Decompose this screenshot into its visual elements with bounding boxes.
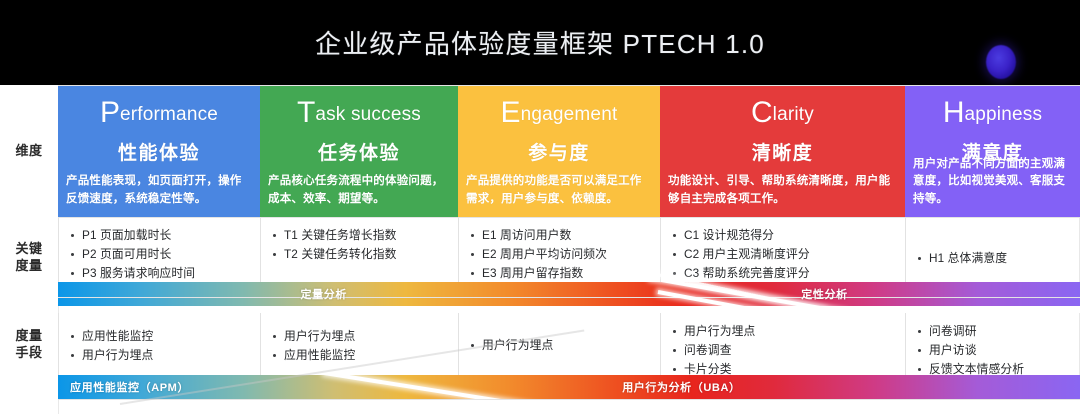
en-rest-clarity: larity: [773, 104, 814, 125]
means-cell-performance: 应用性能监控 用户行为埋点: [58, 313, 260, 376]
row-label-key-metrics-line2: 度量: [15, 258, 42, 273]
initial-e: E: [501, 96, 521, 129]
means-cell-task-success: 用户行为埋点 应用性能监控: [260, 313, 458, 376]
list-item: 问卷调查: [671, 341, 899, 360]
list-item: 应用性能监控: [69, 327, 254, 346]
band-label-apm: 应用性能监控（APM）: [70, 375, 189, 399]
grid-hline-means-bottom: [58, 399, 1080, 400]
header-desc-clarity: 功能设计、引导、帮助系统清晰度，用户能够自主完成各项工作。: [668, 173, 897, 209]
framework-grid: 维度 关键 度量 度量 手段 Performance: [0, 85, 1080, 414]
band-label-uba: 用户行为分析（UBA）: [528, 375, 835, 399]
header-card-task-success: Task success 任务体验 产品核心任务流程中的体验问题，成本、效率、期…: [260, 85, 458, 218]
en-rest-engagement: ngagement: [521, 104, 618, 125]
row-label-dimension: 维度: [0, 85, 58, 218]
list-item: E3 周用户留存指数: [469, 264, 654, 283]
list-item: 用户访谈: [916, 341, 1073, 360]
header-card-happiness: Happiness 满意度 用户对产品不同方面的主观满意度，比如视觉美观、客服支…: [905, 85, 1080, 218]
list-item: 应用性能监控: [271, 346, 452, 365]
en-rest-happiness: appiness: [965, 104, 1043, 125]
list-item: H1 总体满意度: [916, 249, 1073, 268]
decorative-orb-icon: [986, 45, 1016, 79]
list-item: 用户行为埋点: [469, 336, 654, 355]
list-item: E2 周用户平均访问频次: [469, 245, 654, 264]
header-en-happiness: Happiness: [914, 97, 1071, 129]
means-list-task-success: 用户行为埋点 应用性能监控: [271, 327, 452, 365]
tooling-band-diagonal-divider: [324, 375, 562, 399]
row-label-key-metrics-text: 关键 度量: [15, 241, 42, 274]
header-en-clarity: Clarity: [669, 97, 896, 129]
initial-h: H: [943, 96, 965, 129]
list-item: P3 服务请求响应时间: [69, 264, 254, 283]
row-label-means-line2: 手段: [15, 345, 42, 360]
band-label-quantitative: 定量分析: [58, 282, 589, 306]
column-engagement: Engagement 参与度 产品提供的功能是否可以满足工作需求，用户参与度、依…: [458, 85, 660, 414]
row-label-key-metrics-line1: 关键: [15, 241, 42, 256]
grid-hline-header-bottom: [58, 217, 1080, 218]
analysis-band: 定量分析 定性分析: [58, 282, 1080, 306]
list-item: 问卷调研: [916, 322, 1073, 341]
list-item: 反馈文本情感分析: [916, 360, 1073, 376]
initial-t: T: [297, 96, 315, 129]
grid-hline-top: [58, 85, 1080, 86]
list-item: T2 关键任务转化指数: [271, 245, 452, 264]
list-item: C1 设计规范得分: [671, 226, 899, 245]
list-item: E1 周访问用户数: [469, 226, 654, 245]
en-rest-task-success: ask success: [315, 104, 421, 125]
list-item: P1 页面加载时长: [69, 226, 254, 245]
list-item: 用户行为埋点: [271, 327, 452, 346]
tooling-band: 应用性能监控（APM） 用户行为分析（UBA）: [58, 375, 1080, 399]
means-list-happiness: 问卷调研 用户访谈 反馈文本情感分析: [916, 322, 1073, 376]
means-list-engagement: 用户行为埋点: [469, 336, 654, 355]
list-item: T1 关键任务增长指数: [271, 226, 452, 245]
row-label-column: 维度 关键 度量 度量 手段: [0, 85, 58, 414]
header-card-performance: Performance 性能体验 产品性能表现，如页面打开，操作反馈速度，系统稳…: [58, 85, 260, 218]
list-item: 用户行为埋点: [671, 322, 899, 341]
row-label-dimension-text: 维度: [15, 143, 42, 159]
initial-c: C: [751, 96, 773, 129]
dimension-columns: Performance 性能体验 产品性能表现，如页面打开，操作反馈速度，系统稳…: [58, 85, 1080, 414]
column-performance: Performance 性能体验 产品性能表现，如页面打开，操作反馈速度，系统稳…: [58, 85, 260, 414]
list-item: C3 帮助系统完善度评分: [671, 264, 899, 283]
ptech-framework-slide: 企业级产品体验度量框架 PTECH 1.0 维度 关键 度量 度量 手段: [0, 0, 1080, 414]
means-cell-clarity: 用户行为埋点 问卷调查 卡片分类: [660, 313, 905, 376]
list-item: 用户行为埋点: [69, 346, 254, 365]
title-bar: 企业级产品体验度量框架 PTECH 1.0: [0, 0, 1080, 85]
row-label-means-line1: 度量: [15, 328, 42, 343]
header-cn-performance: 性能体验: [67, 138, 251, 165]
list-item: P2 页面可用时长: [69, 245, 254, 264]
band-label-qualitative: 定性分析: [589, 282, 1059, 306]
means-list-performance: 应用性能监控 用户行为埋点: [69, 327, 254, 365]
means-list-clarity: 用户行为埋点 问卷调查 卡片分类: [671, 322, 899, 376]
page-title: 企业级产品体验度量框架 PTECH 1.0: [0, 0, 1080, 85]
initial-p: P: [100, 96, 120, 129]
metrics-list-happiness: H1 总体满意度: [916, 249, 1073, 268]
column-happiness: Happiness 满意度 用户对产品不同方面的主观满意度，比如视觉美观、客服支…: [905, 85, 1080, 414]
en-rest-performance: erformance: [120, 104, 218, 125]
list-item: 卡片分类: [671, 360, 899, 376]
row-label-means-text: 度量 手段: [15, 328, 42, 361]
metrics-list-performance: P1 页面加载时长 P2 页面可用时长 P3 服务请求响应时间: [69, 226, 254, 283]
header-desc-performance: 产品性能表现，如页面打开，操作反馈速度，系统稳定性等。: [66, 173, 252, 209]
header-desc-task-success: 产品核心任务流程中的体验问题，成本、效率、期望等。: [268, 173, 450, 209]
means-cell-engagement: 用户行为埋点: [458, 313, 660, 376]
header-desc-happiness: 用户对产品不同方面的主观满意度，比如视觉美观、客服支持等。: [913, 156, 1072, 209]
header-desc-engagement: 产品提供的功能是否可以满足工作需求，用户参与度、依赖度。: [466, 173, 652, 209]
header-cn-clarity: 清晰度: [669, 138, 896, 165]
header-cn-task-success: 任务体验: [269, 138, 449, 165]
header-cn-engagement: 参与度: [467, 138, 651, 165]
means-cell-happiness: 问卷调研 用户访谈 反馈文本情感分析: [905, 313, 1080, 376]
metrics-list-engagement: E1 周访问用户数 E2 周用户平均访问频次 E3 周用户留存指数: [469, 226, 654, 283]
row-label-means: 度量 手段: [0, 313, 58, 376]
header-en-task-success: Task success: [269, 97, 449, 129]
list-item: C2 用户主观清晰度评分: [671, 245, 899, 264]
header-card-engagement: Engagement 参与度 产品提供的功能是否可以满足工作需求，用户参与度、依…: [458, 85, 660, 218]
header-en-engagement: Engagement: [467, 97, 651, 129]
row-label-key-metrics: 关键 度量: [0, 218, 58, 297]
header-card-clarity: Clarity 清晰度 功能设计、引导、帮助系统清晰度，用户能够自主完成各项工作…: [660, 85, 905, 218]
metrics-list-clarity: C1 设计规范得分 C2 用户主观清晰度评分 C3 帮助系统完善度评分: [671, 226, 899, 283]
metrics-list-task-success: T1 关键任务增长指数 T2 关键任务转化指数: [271, 226, 452, 264]
column-task-success: Task success 任务体验 产品核心任务流程中的体验问题，成本、效率、期…: [260, 85, 458, 414]
column-clarity: Clarity 清晰度 功能设计、引导、帮助系统清晰度，用户能够自主完成各项工作…: [660, 85, 905, 414]
header-en-performance: Performance: [67, 97, 251, 129]
